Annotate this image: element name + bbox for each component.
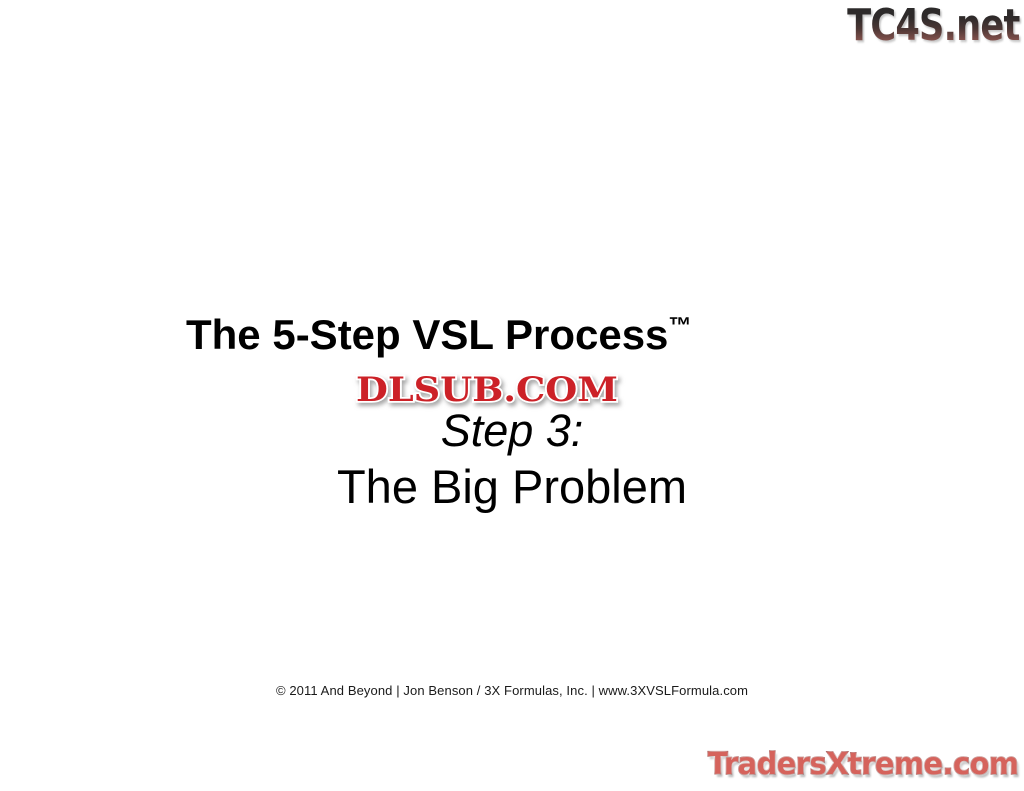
step-topic: The Big Problem	[0, 458, 1024, 516]
step-label: Step 3:	[0, 404, 1024, 458]
tradersxtreme-watermark: TradersXtreme.com	[707, 747, 1018, 783]
page-title-text: The 5-Step VSL Process	[186, 311, 668, 358]
presentation-slide: TC4S.net The 5-Step VSL Process™ Step 3:…	[0, 0, 1024, 791]
page-title: The 5-Step VSL Process™	[186, 300, 691, 360]
footer-credit: © 2011 And Beyond | Jon Benson / 3X Form…	[0, 683, 1024, 698]
subtitle-group: Step 3: The Big Problem	[0, 404, 1024, 516]
tc4s-logo: TC4S.net	[848, 2, 1020, 50]
trademark-symbol: ™	[668, 312, 691, 338]
dlsub-watermark: DLSUB.COM	[356, 370, 618, 410]
